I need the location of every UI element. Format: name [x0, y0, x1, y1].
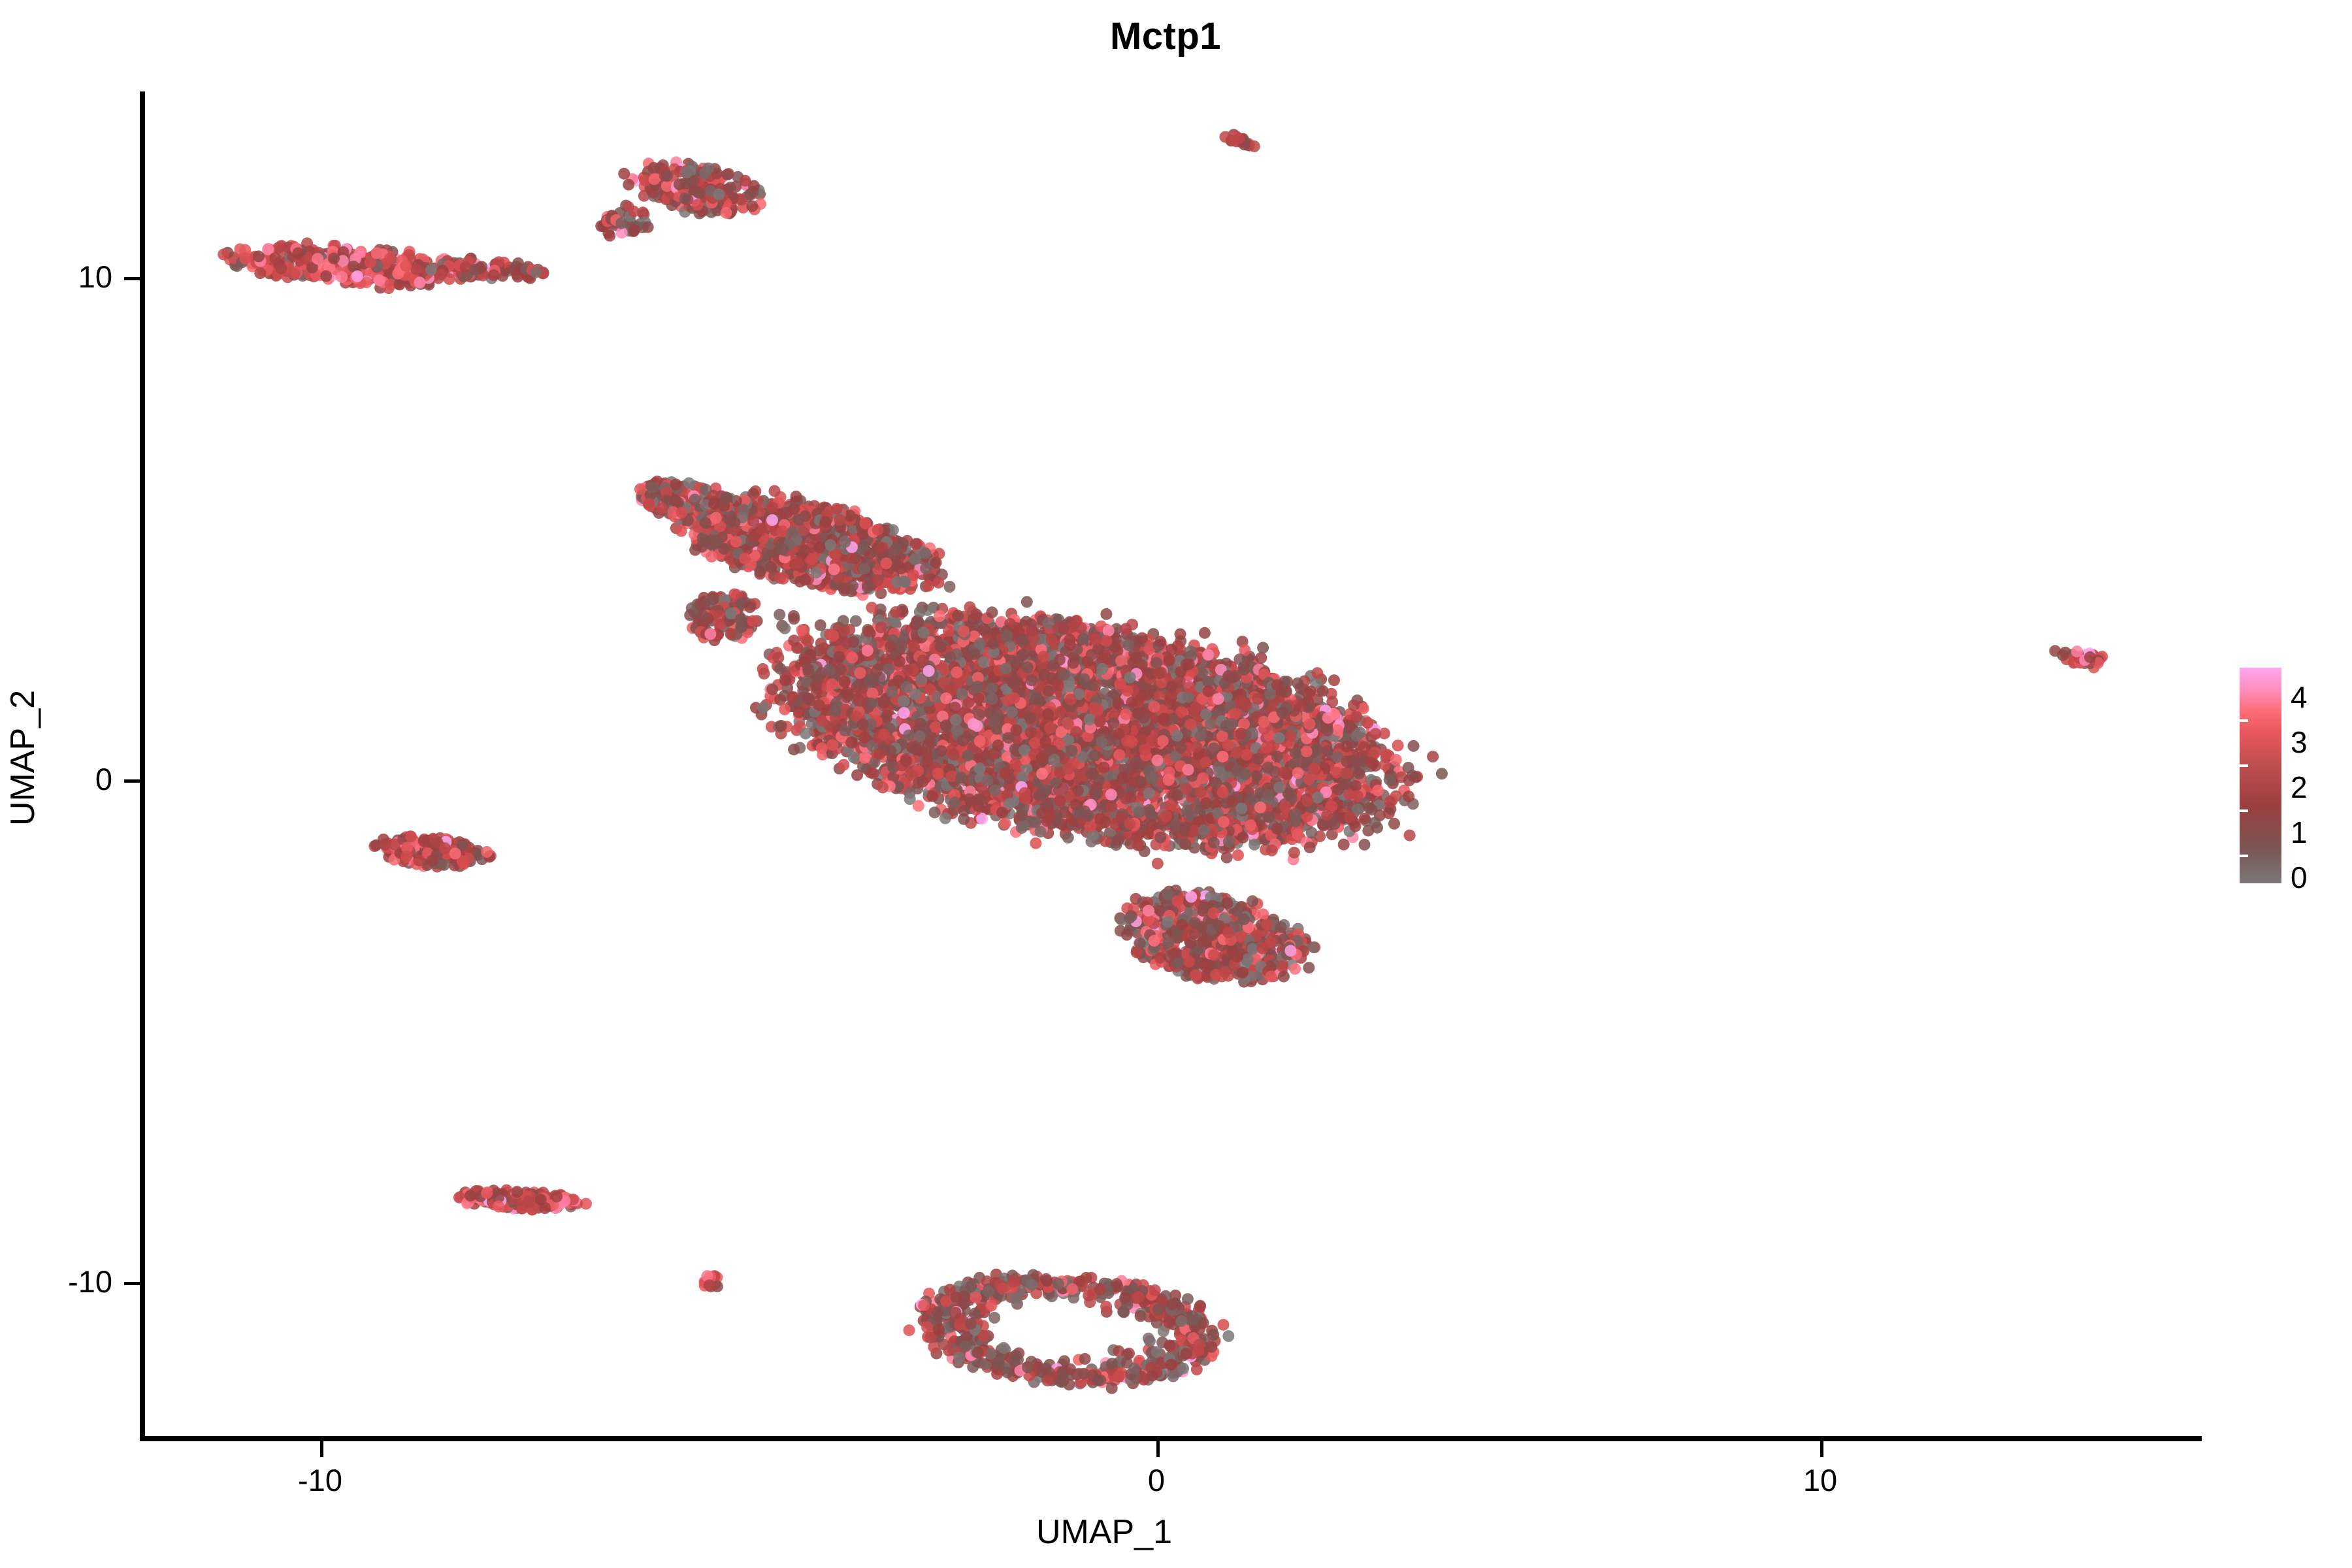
legend-tick — [2240, 764, 2248, 767]
color-legend[interactable]: 43210 — [2240, 668, 2344, 890]
y-axis-line — [140, 91, 145, 1441]
page-title: Mctp1 — [0, 14, 2342, 58]
y-axis-title: UMAP_2 — [3, 464, 42, 1052]
legend-label: 0 — [2291, 862, 2308, 892]
feature-plot-root: Mctp1 -10010 100-10 UMAP_1 UMAP_2 — [0, 0, 2352, 1568]
y-tick-mark — [124, 1282, 140, 1285]
legend-tick — [2336, 809, 2344, 812]
legend-tick — [2240, 809, 2248, 812]
legend-label: 4 — [2291, 682, 2308, 712]
legend-label: 1 — [2291, 817, 2308, 847]
legend-colorbar — [2240, 668, 2281, 883]
x-tick-mark — [320, 1441, 323, 1457]
legend-label: 2 — [2291, 772, 2308, 802]
y-tick-mark — [124, 779, 140, 783]
x-tick-mark — [1820, 1441, 1823, 1457]
y-tick-mark — [124, 277, 140, 280]
scatter-plot-panel[interactable] — [144, 91, 2202, 1439]
y-tick-label: 10 — [0, 259, 112, 295]
x-axis-line — [140, 1436, 2202, 1441]
legend-tick — [2240, 719, 2248, 722]
x-tick-mark — [1156, 1441, 1160, 1457]
legend-label: 3 — [2291, 727, 2308, 757]
legend-tick — [2336, 764, 2344, 767]
legend-tick — [2240, 855, 2248, 857]
legend-tick — [2336, 719, 2344, 722]
x-tick-label: 0 — [1091, 1462, 1222, 1498]
legend-gradient — [2240, 668, 2281, 883]
y-tick-label: -10 — [0, 1264, 112, 1299]
scatter-points-layer — [144, 91, 2202, 1439]
x-tick-label: -10 — [255, 1462, 385, 1498]
x-tick-label: 10 — [1755, 1462, 1886, 1498]
x-axis-title: UMAP_1 — [0, 1512, 2208, 1552]
legend-tick — [2336, 855, 2344, 857]
